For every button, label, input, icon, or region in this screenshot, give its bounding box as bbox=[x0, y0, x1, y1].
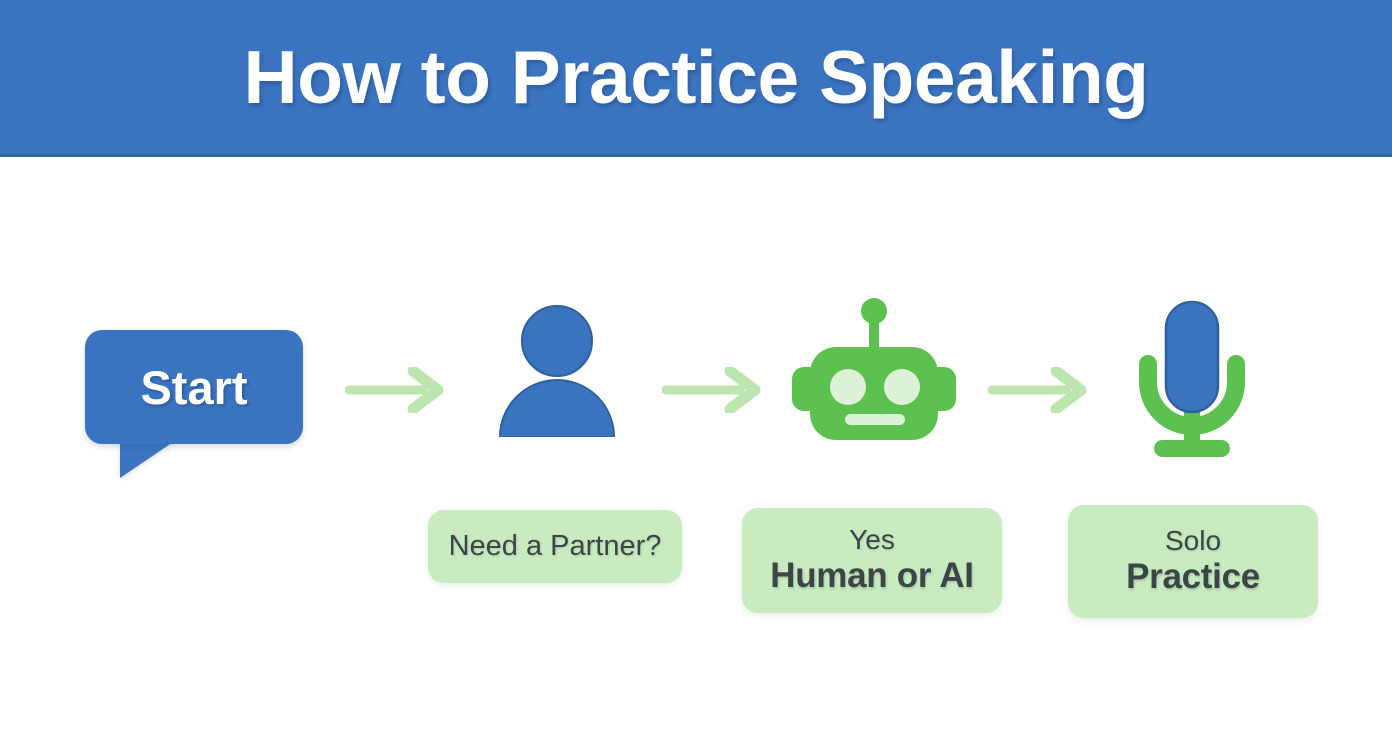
arrow-right-icon bbox=[345, 367, 450, 413]
arrow-right-icon bbox=[662, 367, 767, 413]
speech-bubble[interactable]: Start bbox=[85, 330, 303, 444]
robot-icon bbox=[790, 297, 958, 445]
caption-main-text: Practice bbox=[1126, 557, 1260, 597]
flow-node-start[interactable]: Start bbox=[85, 330, 303, 444]
caption-text: Need a Partner? bbox=[449, 531, 662, 563]
caption-main-text: Human or AI bbox=[770, 556, 973, 596]
caption-need-a-partner[interactable]: Need a Partner? bbox=[428, 510, 682, 583]
caption-top-text: Yes bbox=[849, 524, 895, 556]
microphone-icon bbox=[1128, 300, 1256, 462]
flow-node-person[interactable] bbox=[496, 305, 618, 437]
caption-human-or-ai[interactable]: Yes Human or AI bbox=[742, 508, 1002, 613]
page-title: How to Practice Speaking bbox=[244, 40, 1149, 115]
start-label: Start bbox=[140, 364, 247, 411]
header-band: How to Practice Speaking bbox=[0, 0, 1392, 157]
caption-solo-practice[interactable]: Solo Practice bbox=[1068, 505, 1318, 618]
speech-bubble-tail bbox=[120, 440, 176, 478]
person-icon bbox=[496, 305, 618, 437]
flow-diagram-canvas: Start bbox=[0, 157, 1392, 752]
flow-node-robot[interactable] bbox=[790, 297, 958, 445]
arrow-right-icon bbox=[988, 367, 1093, 413]
flow-node-microphone[interactable] bbox=[1128, 300, 1256, 462]
caption-top-text: Solo bbox=[1165, 525, 1221, 557]
